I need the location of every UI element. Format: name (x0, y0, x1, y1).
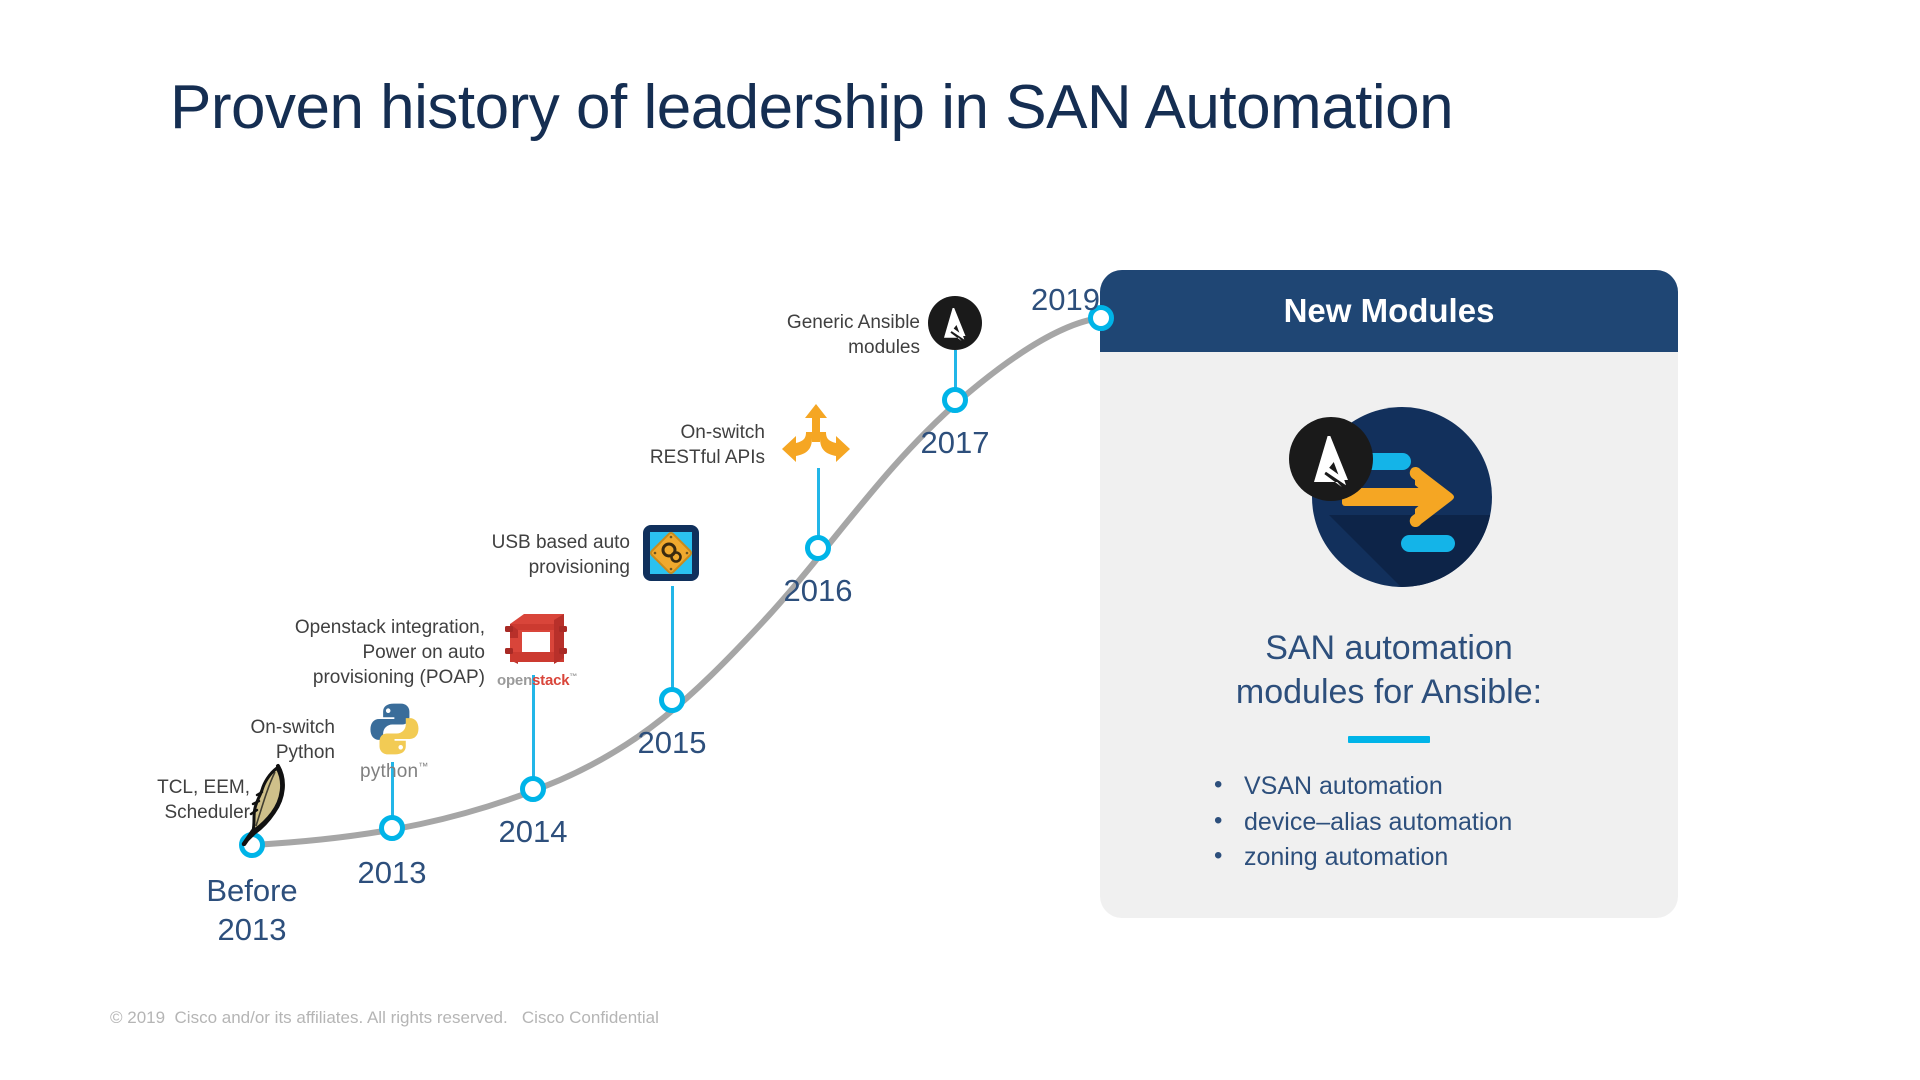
branching-arrows-icon (780, 402, 852, 469)
caption-line-2: Power on auto (270, 640, 485, 665)
panel-heading-line-2: modules for Ansible: (1236, 670, 1542, 714)
caption-line-1: Generic Ansible (760, 310, 920, 335)
caption-line-3: provisioning (POAP) (270, 665, 485, 690)
timeline-caption-2015: USB based auto provisioning (440, 530, 630, 580)
caption-line-2: provisioning (440, 555, 630, 580)
timeline-year-before-2013: Before 2013 (192, 872, 312, 950)
page-title: Proven history of leadership in SAN Auto… (170, 72, 1810, 143)
list-item: zoning automation (1208, 840, 1512, 876)
openstack-logo-icon: openstack™ (497, 608, 575, 689)
timeline-caption-2017: Generic Ansible modules (760, 310, 920, 360)
openstack-wordmark-bold: stack (532, 672, 569, 689)
caption-line-1: On-switch (175, 715, 335, 740)
timeline-marker-2015[interactable] (659, 687, 685, 713)
caption-line-1: Openstack integration, (270, 615, 485, 640)
new-modules-panel: New Modules (1100, 270, 1678, 918)
timeline-year-2013: 2013 (332, 855, 452, 891)
timeline-stem-2015 (671, 586, 674, 689)
timeline-caption-before-2013: TCL, EEM, Scheduler (30, 775, 250, 825)
timeline-stem-2017 (954, 350, 957, 388)
timeline-marker-2014[interactable] (520, 776, 546, 802)
year-line-2: 2013 (192, 911, 312, 950)
timeline-stem-2016 (817, 468, 820, 536)
caption-line-1: TCL, EEM, (30, 775, 250, 800)
python-wordmark: python (360, 761, 418, 782)
ansible-logo-icon (928, 296, 982, 355)
ansible-san-automation-icon (1269, 397, 1509, 602)
panel-divider (1348, 736, 1430, 743)
caption-line-2: RESTful APIs (620, 445, 765, 470)
caption-line-1: On-switch (620, 420, 765, 445)
timeline-year-2017: 2017 (895, 425, 1015, 461)
timeline-marker-2016[interactable] (805, 535, 831, 561)
caption-line-1: USB based auto (440, 530, 630, 555)
timeline-year-2019: 2019 (1000, 282, 1100, 318)
python-logo-icon: python™ (360, 700, 428, 783)
timeline-year-2015: 2015 (612, 725, 732, 761)
caption-line-2: Scheduler (30, 800, 250, 825)
timeline-year-2016: 2016 (758, 573, 878, 609)
panel-module-list: VSAN automation device–alias automation … (1208, 769, 1512, 876)
feather-quill-icon (236, 760, 292, 851)
timeline-marker-2017[interactable] (942, 387, 968, 413)
footer-copyright: © 2019 Cisco and/or its affiliates. All … (110, 1008, 659, 1028)
panel-body: SAN automation modules for Ansible: VSAN… (1100, 352, 1678, 918)
timeline-year-2014: 2014 (473, 814, 593, 850)
caption-line-2: modules (760, 335, 920, 360)
openstack-wordmark-light: open (497, 672, 532, 689)
year-line-1: Before (192, 872, 312, 911)
usb-auto-provisioning-icon (642, 524, 700, 587)
timeline-stem-2014 (532, 675, 535, 778)
panel-header: New Modules (1100, 270, 1678, 352)
list-item: VSAN automation (1208, 769, 1512, 805)
timeline-caption-2014: Openstack integration, Power on auto pro… (270, 615, 485, 690)
timeline-caption-2013: On-switch Python (175, 715, 335, 765)
panel-header-title: New Modules (1284, 292, 1495, 330)
panel-heading: SAN automation modules for Ansible: (1236, 626, 1542, 714)
slide-root: Proven history of leadership in SAN Auto… (0, 0, 1920, 1080)
timeline-caption-2016: On-switch RESTful APIs (620, 420, 765, 470)
panel-heading-line-1: SAN automation (1236, 626, 1542, 670)
list-item: device–alias automation (1208, 805, 1512, 841)
timeline-marker-2013[interactable] (379, 815, 405, 841)
